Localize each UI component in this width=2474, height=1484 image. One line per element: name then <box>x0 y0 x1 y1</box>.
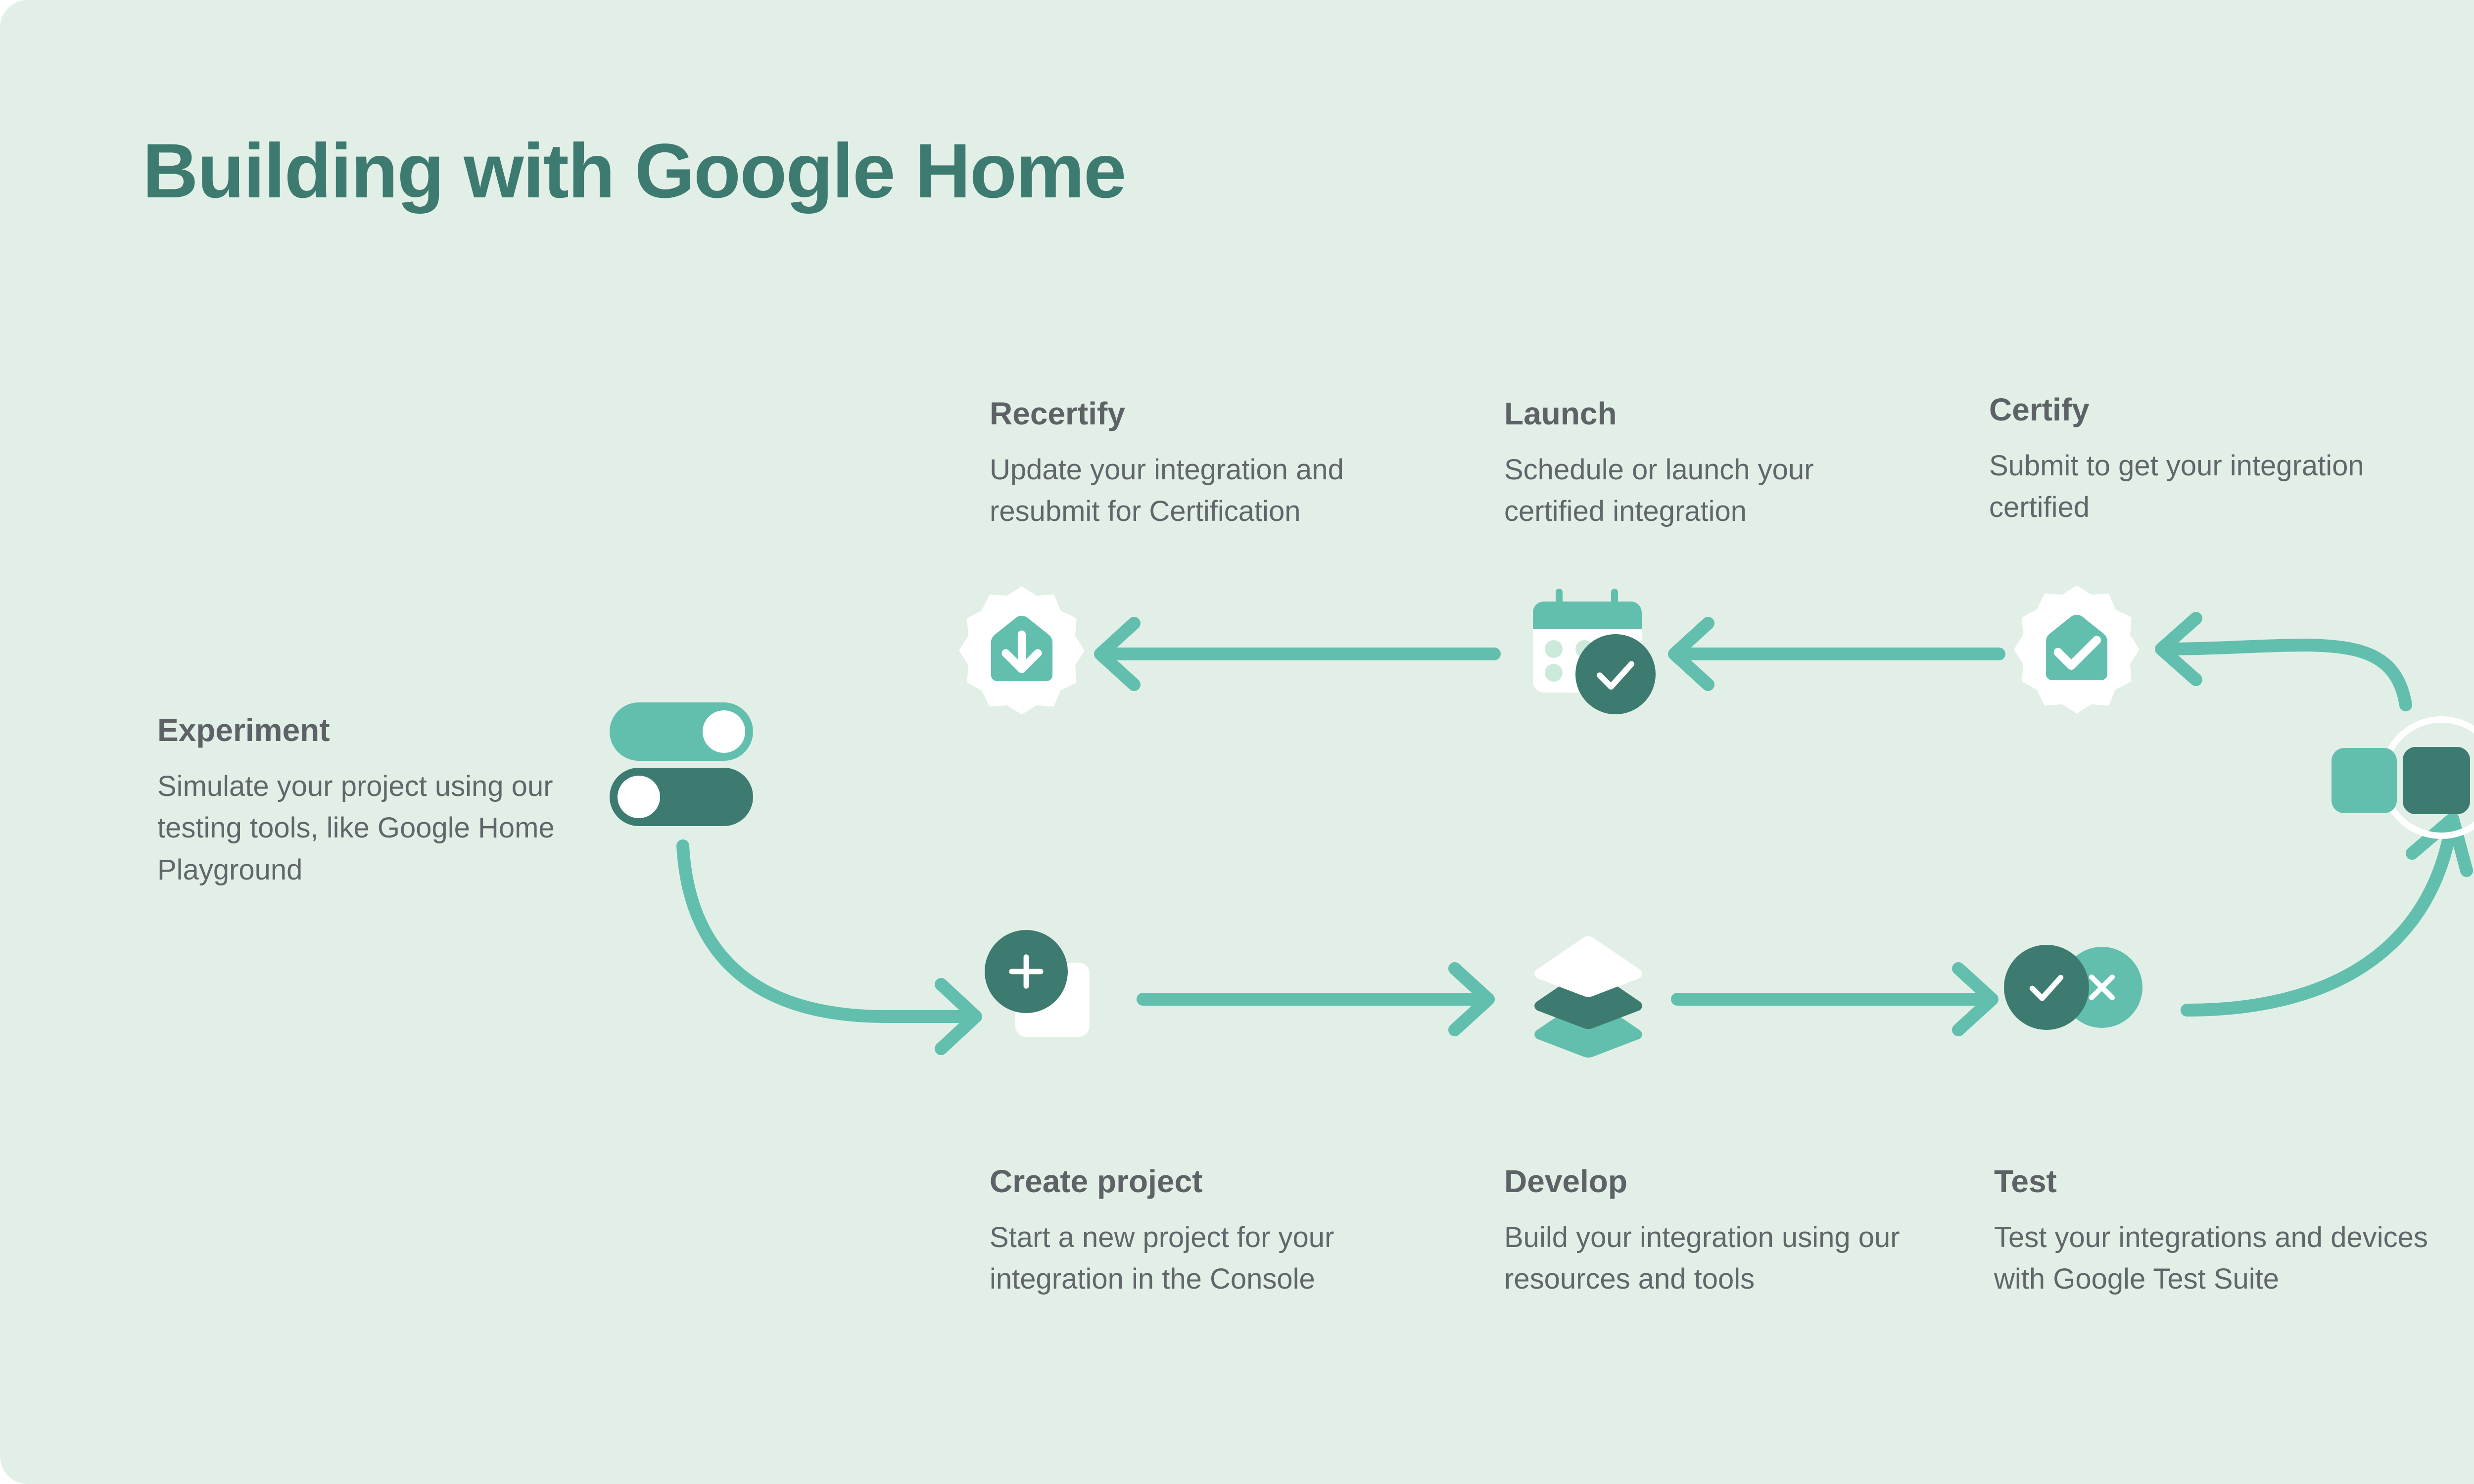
toggle-knob <box>703 710 745 753</box>
device-secondary <box>2331 748 2397 813</box>
node-description: Submit to get your integration certified <box>1989 445 2365 529</box>
connector-create-project-to-develop <box>1143 969 1488 1030</box>
node-description: Start a new project for your integration… <box>990 1217 1415 1300</box>
badge-check-icon <box>2010 583 2143 716</box>
node-description: Schedule or launch your certified integr… <box>1504 449 1900 533</box>
node-title: Certify <box>1989 392 2365 428</box>
check-circle-icon <box>2004 945 2089 1030</box>
toggle-off <box>610 768 753 826</box>
toggle-on <box>610 702 753 761</box>
toggles-icon <box>610 702 758 826</box>
connector-field-trial-to-certify <box>2161 618 2406 705</box>
connector-certify-to-launch <box>1674 623 1999 685</box>
plus-badge-icon <box>985 930 1068 1013</box>
node-title: Test <box>1994 1163 2459 1200</box>
node-recertify: Recertify Update your integration and re… <box>990 396 1415 533</box>
check-badge-icon <box>1575 634 1656 714</box>
layers-icon <box>1519 932 1658 1061</box>
node-description: Update your integration and resubmit for… <box>990 449 1415 533</box>
check-cross-icon <box>2004 945 2167 1044</box>
node-title: Recertify <box>990 396 1415 432</box>
add-card-icon <box>985 930 1123 1059</box>
node-develop: Develop Build your integration using our… <box>1504 1163 1920 1300</box>
node-description: Build your integration using our resourc… <box>1504 1217 1920 1300</box>
devices-icon <box>2326 702 2474 851</box>
node-certify: Certify Submit to get your integration c… <box>1989 392 2365 529</box>
node-title: Experiment <box>157 712 593 749</box>
node-title: Create project <box>990 1163 1415 1200</box>
badge-download-icon <box>955 584 1089 717</box>
device-primary <box>2403 747 2470 814</box>
node-title: Launch <box>1504 396 1900 432</box>
calendar-dot <box>1545 664 1563 682</box>
toggle-knob <box>618 776 660 818</box>
node-description: Simulate your project using our testing … <box>157 766 593 891</box>
node-description: Test your integrations and devices with … <box>1994 1217 2459 1300</box>
node-create-project: Create project Start a new project for y… <box>990 1163 1415 1300</box>
diagram-canvas: Building with Google Home <box>0 0 2474 1484</box>
node-experiment: Experiment Simulate your project using o… <box>157 712 593 891</box>
connector-experiment-to-create-project <box>683 846 976 1049</box>
node-launch: Launch Schedule or launch your certified… <box>1504 396 1900 533</box>
node-title: Develop <box>1504 1163 1920 1200</box>
calendar-check-icon <box>1533 589 1662 722</box>
connector-launch-to-recertify <box>1100 623 1494 685</box>
node-test: Test Test your integrations and devices … <box>1994 1163 2459 1300</box>
calendar-dot <box>1545 640 1563 658</box>
calendar-header <box>1533 602 1642 629</box>
connector-develop-to-test <box>1677 969 1992 1030</box>
